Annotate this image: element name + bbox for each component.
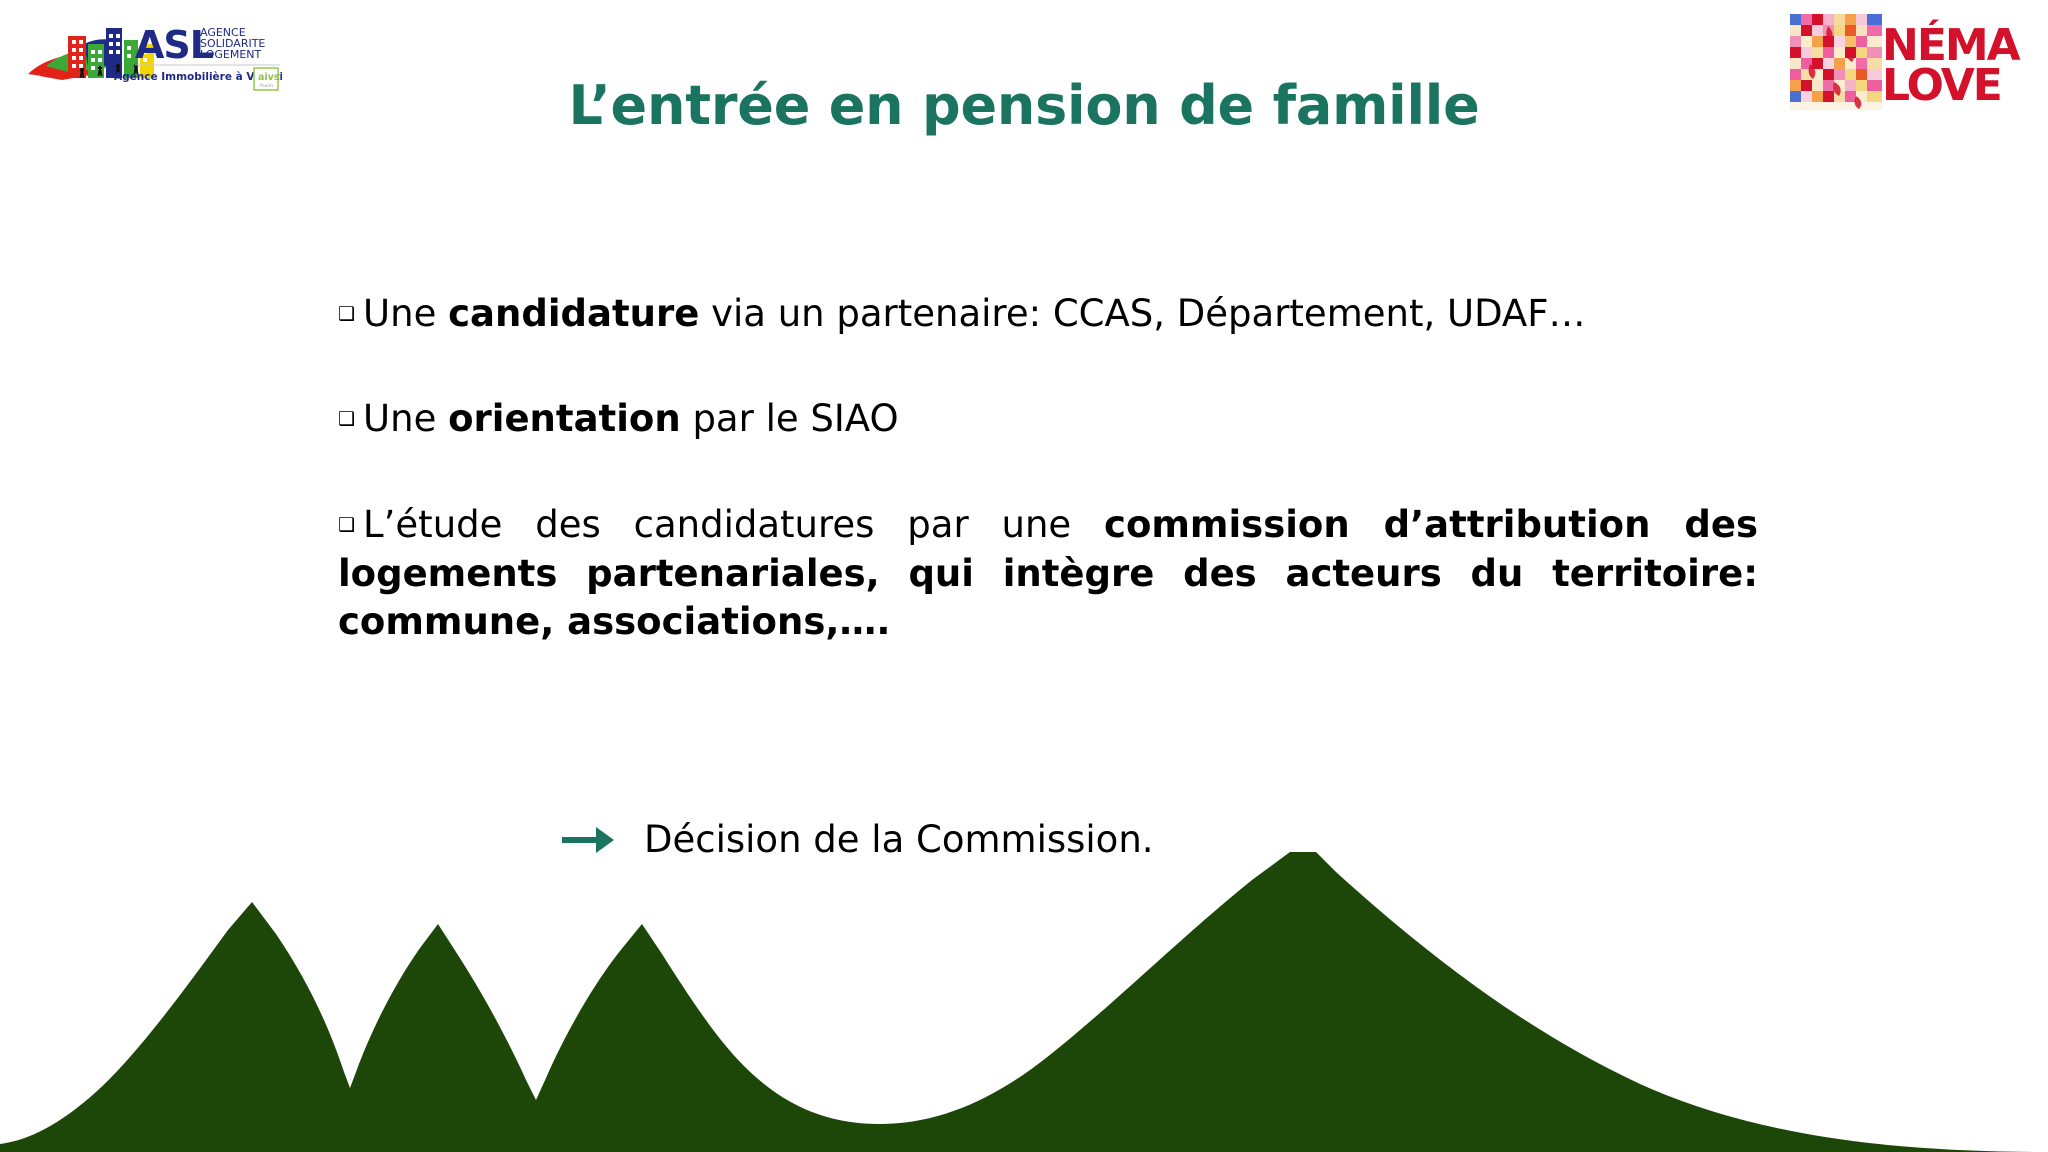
bullet-lead-text: Une <box>363 292 448 335</box>
bullet-tail-text: par le SIAO <box>681 397 899 440</box>
bullet-emphasis-text: orientation <box>448 397 681 440</box>
square-bullet-icon: ❑ <box>338 513 355 538</box>
asl-logo-line3: LOGEMENT <box>200 48 262 61</box>
slide-title: L’entrée en pension de famille <box>0 74 2048 137</box>
bullet-lead-text: Une <box>363 397 448 440</box>
bullet-lead-text: L’étude des candidatures par une <box>363 503 1104 546</box>
bullet-item-candidature: ❑Une candidature via un partenaire: CCAS… <box>338 290 1758 337</box>
bullet-item-commission: ❑L’étude des candidatures par une commis… <box>338 501 1758 647</box>
bullet-emphasis-text: candidature <box>448 292 699 335</box>
square-bullet-icon: ❑ <box>338 407 355 431</box>
bullet-tail-text: via un partenaire: CCAS, Département, UD… <box>699 292 1585 335</box>
square-bullet-icon: ❑ <box>338 302 355 326</box>
bullet-item-orientation: ❑Une orientation par le SIAO <box>338 395 1758 442</box>
mountain-silhouette <box>0 852 2048 1152</box>
slide-canvas: ASL AGENCE SOLIDARITE LOGEMENT Agence Im… <box>0 0 2048 1152</box>
slide-body: ❑Une candidature via un partenaire: CCAS… <box>338 290 1758 647</box>
